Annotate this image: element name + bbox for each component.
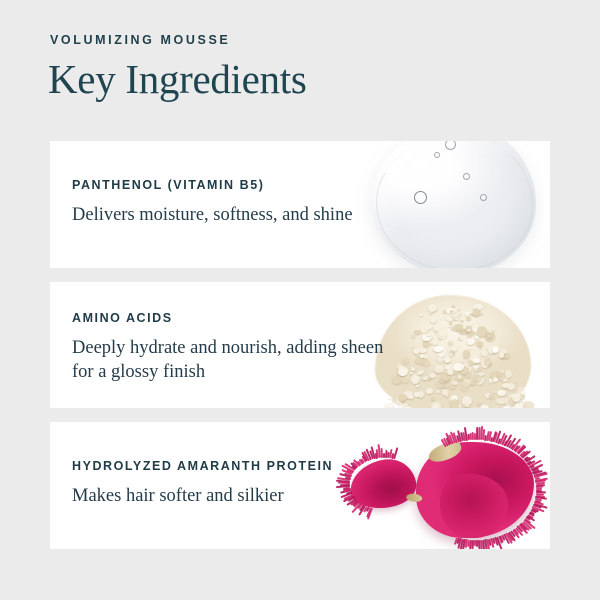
ingredient-description: Delivers moisture, softness, and shine: [72, 203, 353, 228]
ingredient-name: HYDROLYZED AMARANTH PROTEIN: [72, 460, 333, 473]
ingredient-name: PANTHENOL (VITAMIN B5): [72, 179, 353, 192]
ingredient-card: AMINO ACIDS Deeply hydrate and nourish, …: [50, 282, 550, 408]
header: VOLUMIZING MOUSSE Key Ingredients: [50, 34, 550, 101]
ingredient-description: Deeply hydrate and nourish, adding sheen…: [72, 336, 402, 385]
page-title: Key Ingredients: [48, 58, 550, 101]
ingredient-card-text: HYDROLYZED AMARANTH PROTEIN Makes hair s…: [72, 460, 333, 508]
ingredient-name: AMINO ACIDS: [72, 312, 402, 325]
ingredients-poster: VOLUMIZING MOUSSE Key Ingredients PANTHE…: [0, 0, 600, 600]
ingredient-card-text: PANTHENOL (VITAMIN B5) Delivers moisture…: [72, 179, 353, 227]
amaranth-flower-image: [310, 422, 550, 549]
ingredient-card: HYDROLYZED AMARANTH PROTEIN Makes hair s…: [50, 422, 550, 549]
ingredient-description: Makes hair softer and silkier: [72, 484, 333, 509]
product-eyebrow: VOLUMIZING MOUSSE: [50, 34, 550, 47]
ingredient-card: PANTHENOL (VITAMIN B5) Delivers moisture…: [50, 141, 550, 268]
ingredient-card-text: AMINO ACIDS Deeply hydrate and nourish, …: [72, 312, 402, 385]
